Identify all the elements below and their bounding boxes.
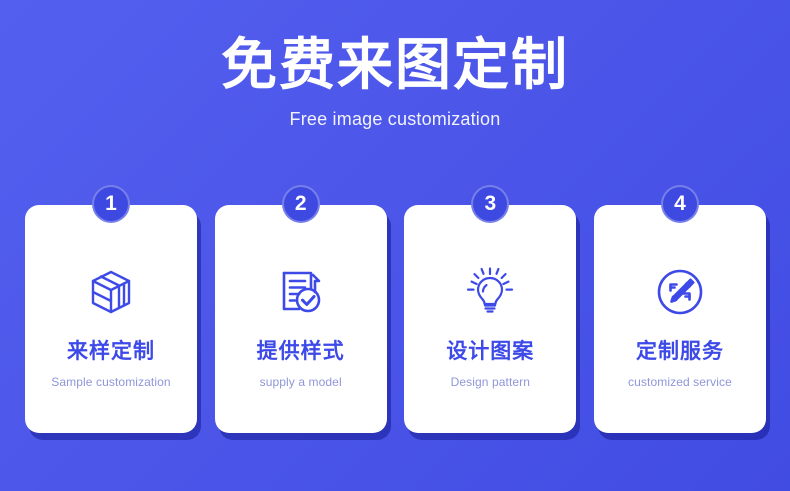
card-title: 来样定制: [67, 339, 155, 365]
feature-card-list: 1 来样定制 Sample customization 2: [25, 205, 766, 433]
card-subtitle: Design pattern: [451, 374, 530, 390]
card-subtitle: customized service: [628, 374, 732, 390]
card-subtitle: supply a model: [260, 374, 342, 390]
heading-block: 免费来图定制 Free image customization: [0, 32, 790, 130]
card-subtitle: Sample customization: [51, 374, 170, 390]
step-number-badge: 3: [471, 185, 509, 223]
document-check-icon: [272, 263, 330, 321]
promo-banner: 免费来图定制 Free image customization 1 来样定制 S…: [0, 0, 790, 491]
pencil-circle-icon: [651, 263, 709, 321]
step-number-badge: 4: [661, 185, 699, 223]
feature-card[interactable]: 1 来样定制 Sample customization: [25, 205, 197, 433]
box-icon: [82, 263, 140, 321]
feature-card[interactable]: 2 提供样式 supply a model: [215, 205, 387, 433]
feature-card[interactable]: 3 设计图案: [404, 205, 576, 433]
feature-card[interactable]: 4 定制服务 customized service: [594, 205, 766, 433]
card-title: 定制服务: [636, 339, 724, 365]
step-number-badge: 1: [92, 185, 130, 223]
step-number-badge: 2: [282, 185, 320, 223]
page-title: 免费来图定制: [0, 32, 790, 98]
page-subtitle: Free image customization: [0, 108, 790, 130]
lightbulb-icon: [461, 263, 519, 321]
card-title: 设计图案: [446, 339, 534, 365]
card-title: 提供样式: [257, 339, 345, 365]
